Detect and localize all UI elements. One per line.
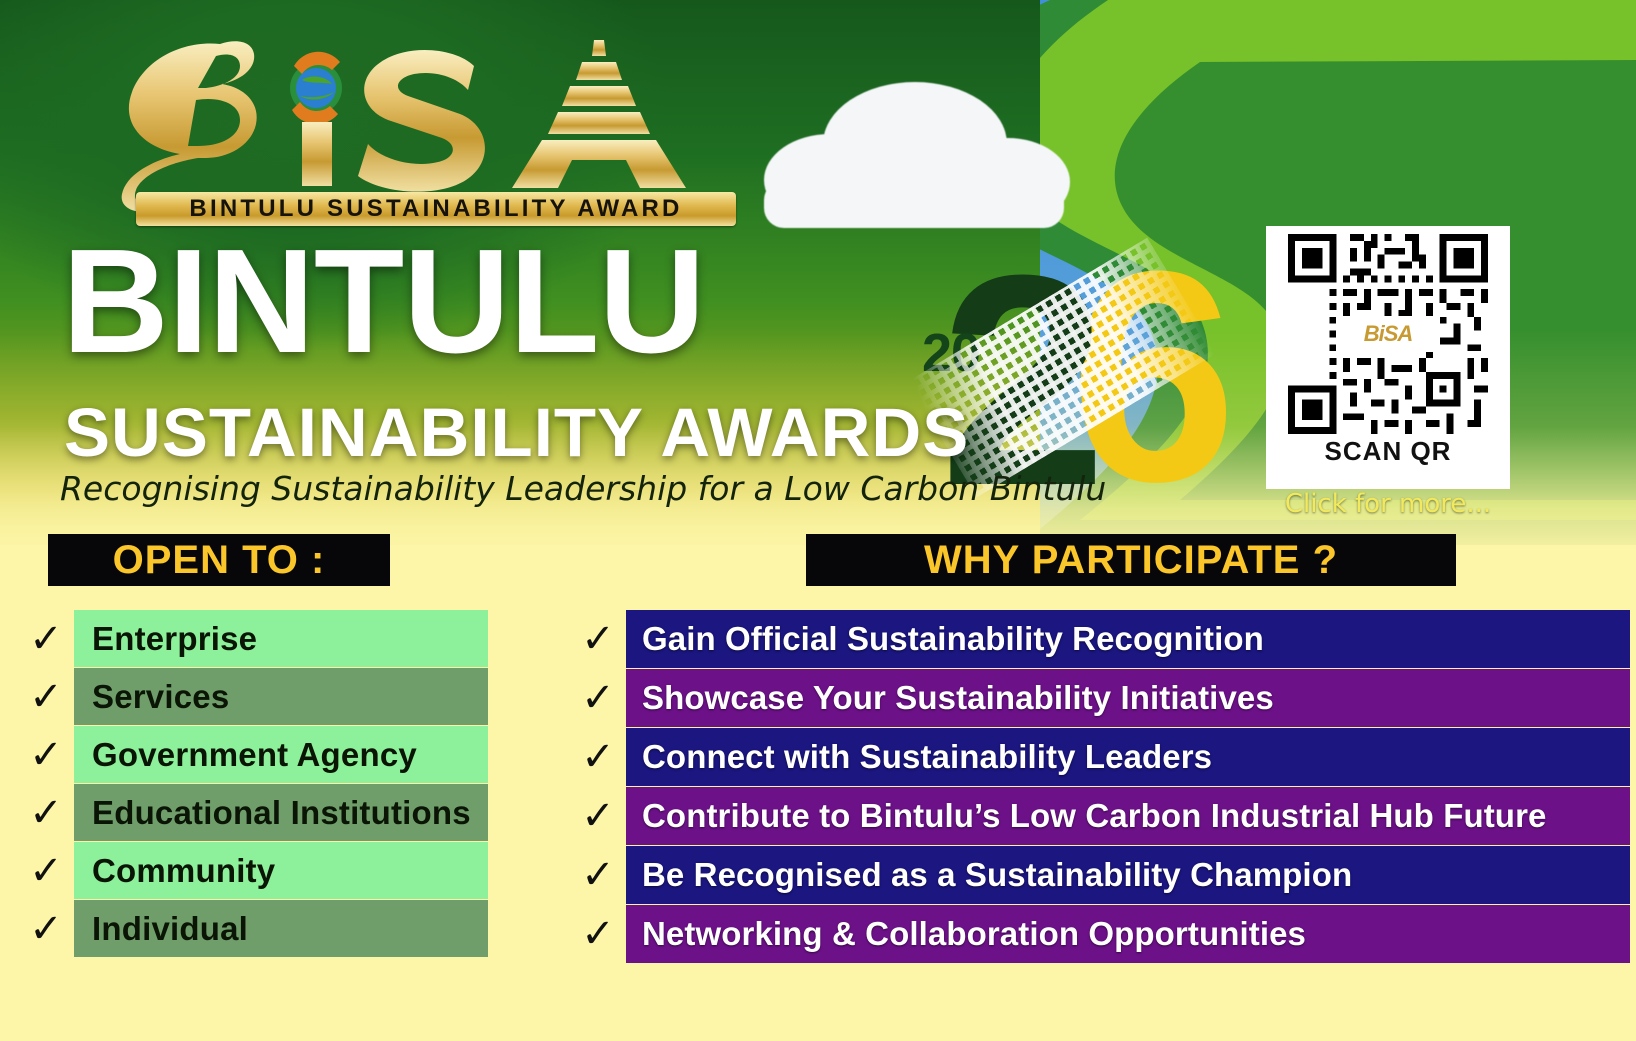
list-item: ✓Networking & Collaboration Opportunitie… — [570, 905, 1630, 963]
checkmark-icon: ✓ — [570, 728, 626, 786]
list-item: ✓Services — [18, 668, 488, 725]
year-prefix-20: 20 — [922, 322, 980, 384]
why-participate-row-bar: Gain Official Sustainability Recognition — [626, 610, 1630, 668]
checkmark-icon: ✓ — [570, 610, 626, 668]
list-item: ✓Contribute to Bintulu’s Low Carbon Indu… — [570, 787, 1630, 845]
open-to-row-bar: Government Agency — [74, 726, 488, 783]
open-to-row-bar: Individual — [74, 900, 488, 957]
qr-inset-logo-text: BiSA — [1364, 323, 1413, 345]
why-participate-label: Be Recognised as a Sustainability Champi… — [642, 856, 1352, 894]
open-to-label: Enterprise — [92, 620, 257, 658]
open-to-row-bar: Services — [74, 668, 488, 725]
checkmark-icon: ✓ — [18, 784, 74, 841]
open-to-label: Services — [92, 678, 229, 716]
checkmark-icon: ✓ — [18, 726, 74, 783]
why-participate-row-bar: Connect with Sustainability Leaders — [626, 728, 1630, 786]
open-to-list: ✓Enterprise✓Services✓Government Agency✓E… — [18, 610, 488, 958]
why-participate-label: Gain Official Sustainability Recognition — [642, 620, 1264, 658]
page-subtitle: SUSTAINABILITY AWARDS — [64, 398, 969, 467]
why-participate-row-bar: Showcase Your Sustainability Initiatives — [626, 669, 1630, 727]
why-participate-label: Connect with Sustainability Leaders — [642, 738, 1212, 776]
bisa-logo[interactable]: BINTULU SUSTAINABILITY AWARD — [70, 26, 690, 216]
open-to-label: Government Agency — [92, 736, 417, 774]
checkmark-icon: ✓ — [18, 668, 74, 725]
qr-code-card[interactable]: BiSA SCAN QR — [1266, 226, 1510, 489]
why-participate-list: ✓Gain Official Sustainability Recognitio… — [570, 610, 1630, 964]
poster-root: BINTULU SUSTAINABILITY AWARD 6 2 20 BINT… — [0, 0, 1636, 1041]
qr-code-matrix[interactable]: BiSA — [1284, 234, 1492, 434]
open-to-row-bar: Community — [74, 842, 488, 899]
scan-qr-label: SCAN QR — [1325, 436, 1452, 467]
open-to-row-bar: Educational Institutions — [74, 784, 488, 841]
list-item: ✓Be Recognised as a Sustainability Champ… — [570, 846, 1630, 904]
list-item: ✓Community — [18, 842, 488, 899]
click-for-more-link[interactable]: Click for more... — [1266, 489, 1510, 519]
checkmark-icon: ✓ — [18, 842, 74, 899]
bisa-logo-mark — [70, 26, 690, 216]
open-to-row-bar: Enterprise — [74, 610, 488, 667]
qr-inset-logo: BiSA — [1336, 316, 1440, 352]
why-participate-row-bar: Networking & Collaboration Opportunities — [626, 905, 1630, 963]
why-participate-label: Networking & Collaboration Opportunities — [642, 915, 1306, 953]
section-header-why-participate: WHY PARTICIPATE ? — [806, 534, 1456, 586]
checkmark-icon: ✓ — [570, 905, 626, 963]
checkmark-icon: ✓ — [570, 787, 626, 845]
why-participate-row-bar: Be Recognised as a Sustainability Champi… — [626, 846, 1630, 904]
open-to-label: Educational Institutions — [92, 794, 471, 832]
list-item: ✓Enterprise — [18, 610, 488, 667]
list-item: ✓Showcase Your Sustainability Initiative… — [570, 669, 1630, 727]
checkmark-icon: ✓ — [18, 900, 74, 957]
why-participate-label: Showcase Your Sustainability Initiatives — [642, 679, 1274, 717]
why-participate-row-bar: Contribute to Bintulu’s Low Carbon Indus… — [626, 787, 1630, 845]
checkmark-icon: ✓ — [570, 669, 626, 727]
page-title: BINTULU — [62, 228, 704, 376]
open-to-label: Community — [92, 852, 275, 890]
list-item: ✓Gain Official Sustainability Recognitio… — [570, 610, 1630, 668]
checkmark-icon: ✓ — [18, 610, 74, 667]
section-header-why-participate-label: WHY PARTICIPATE ? — [924, 538, 1338, 583]
list-item: ✓Educational Institutions — [18, 784, 488, 841]
list-item: ✓Connect with Sustainability Leaders — [570, 728, 1630, 786]
list-item: ✓Individual — [18, 900, 488, 957]
why-participate-label: Contribute to Bintulu’s Low Carbon Indus… — [642, 797, 1546, 835]
open-to-label: Individual — [92, 910, 248, 948]
tagline: Recognising Sustainability Leadership fo… — [60, 472, 1106, 505]
checkmark-icon: ✓ — [570, 846, 626, 904]
section-header-open-to-label: OPEN TO : — [113, 538, 326, 583]
list-item: ✓Government Agency — [18, 726, 488, 783]
section-header-open-to: OPEN TO : — [48, 534, 390, 586]
